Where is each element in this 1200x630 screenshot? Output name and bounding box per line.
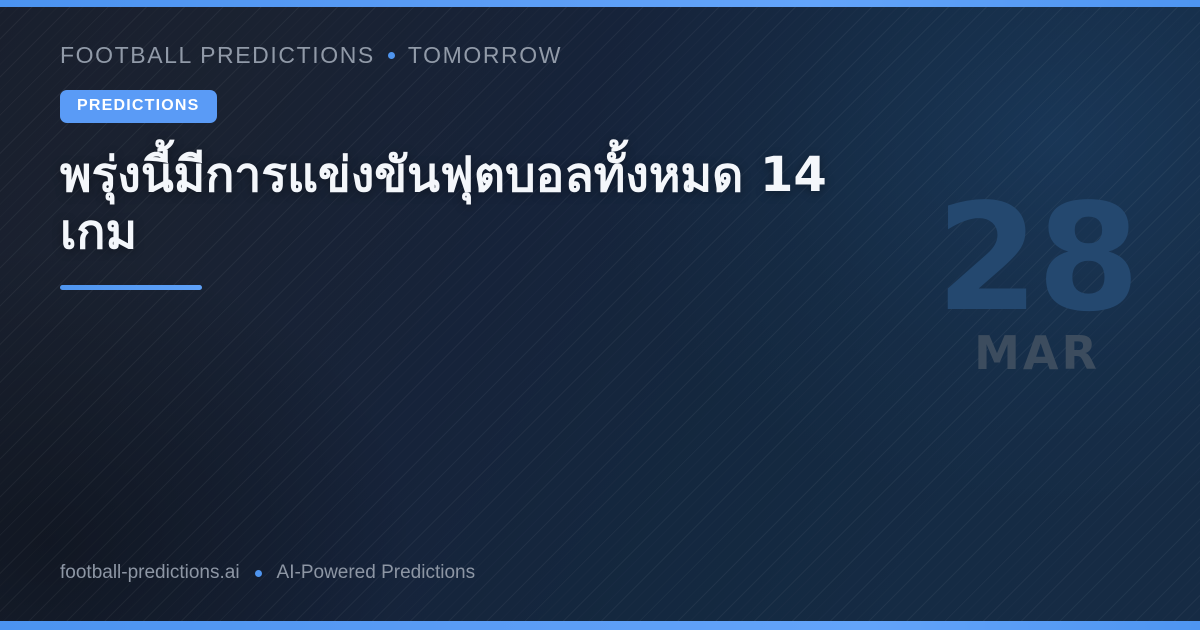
accent-underline	[60, 285, 202, 290]
bottom-accent-bar	[0, 621, 1200, 630]
separator-dot-icon	[255, 570, 262, 577]
footer-tagline: AI-Powered Predictions	[277, 562, 476, 584]
eyebrow-secondary-label: TOMORROW	[408, 42, 562, 69]
date-day: 28	[936, 196, 1138, 320]
date-month: MAR	[936, 330, 1138, 376]
social-card: 28 MAR FOOTBALL PREDICTIONS TOMORROW PRE…	[0, 0, 1200, 630]
footer-site-label: football-predictions.ai	[60, 562, 240, 584]
top-accent-bar	[0, 0, 1200, 7]
status-badge: PREDICTIONS	[60, 90, 217, 123]
footer: football-predictions.ai AI-Powered Predi…	[60, 562, 475, 584]
content-column: FOOTBALL PREDICTIONS TOMORROW PREDICTION…	[60, 42, 900, 290]
page-title: พรุ่งนี้มีการแข่งขันฟุตบอลทั้งหมด 14 เกม	[60, 147, 900, 260]
eyebrow-primary-label: FOOTBALL PREDICTIONS	[60, 42, 375, 69]
eyebrow: FOOTBALL PREDICTIONS TOMORROW	[60, 42, 900, 69]
separator-dot-icon	[388, 52, 395, 59]
date-block: 28 MAR	[936, 196, 1138, 376]
